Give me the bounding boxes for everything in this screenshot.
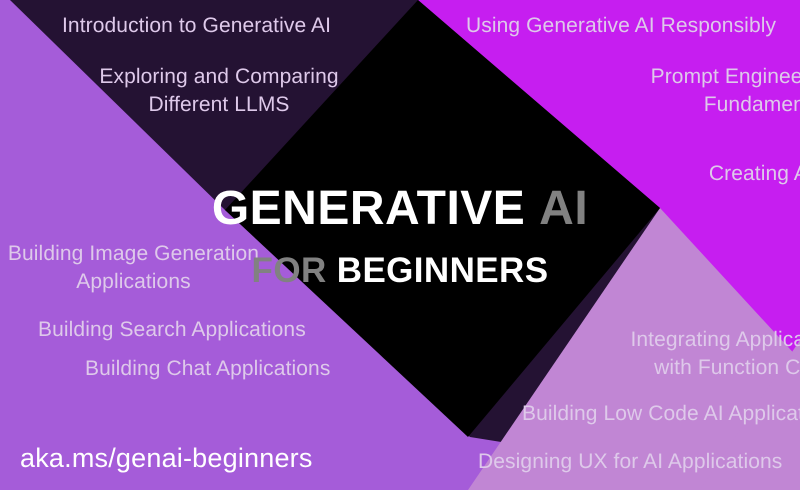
module-line: Integrating Applications — [582, 326, 800, 354]
module-line: Using Generative AI Responsibly — [466, 12, 776, 40]
module-line: Introduction to Generative AI — [62, 12, 331, 40]
module-label-image-generation: Building Image Generation Applications — [0, 240, 271, 296]
module-label-prompt-engineering: Prompt Engineering Fundamentals — [594, 63, 800, 119]
module-line: Building Image Generation — [0, 240, 271, 268]
footer-short-link[interactable]: aka.ms/genai-beginners — [20, 443, 313, 474]
module-line: Prompts — [668, 188, 800, 216]
module-line: Designing UX for AI Applications — [478, 448, 782, 476]
poster-canvas: Introduction to Generative AI Exploring … — [0, 0, 800, 490]
module-line: Creating Advanced — [668, 160, 800, 188]
module-label-responsible-ai: Using Generative AI Responsibly — [466, 12, 776, 40]
module-line: Different LLMS — [90, 91, 348, 119]
module-label-search-applications: Building Search Applications — [38, 316, 306, 344]
module-label-introduction: Introduction to Generative AI — [62, 12, 331, 40]
module-line: Exploring and Comparing — [90, 63, 348, 91]
module-label-function-calling: Integrating Applications with Function C… — [582, 326, 800, 382]
module-label-advanced-prompts: Creating Advanced Prompts — [668, 160, 800, 216]
module-line: Fundamentals — [594, 91, 800, 119]
module-line: Prompt Engineering — [594, 63, 800, 91]
module-label-chat-applications: Building Chat Applications — [85, 355, 330, 383]
module-line: Building Chat Applications — [85, 355, 330, 383]
module-label-ux-design: Designing UX for AI Applications — [478, 448, 782, 476]
module-line: Building Search Applications — [38, 316, 306, 344]
module-label-low-code: Building Low Code AI Applications — [522, 400, 800, 428]
module-line: with Function Calling — [582, 354, 800, 382]
module-line: Applications — [0, 268, 271, 296]
module-label-exploring-llms: Exploring and Comparing Different LLMS — [90, 63, 348, 119]
module-line: Building Low Code AI Applications — [522, 400, 800, 428]
